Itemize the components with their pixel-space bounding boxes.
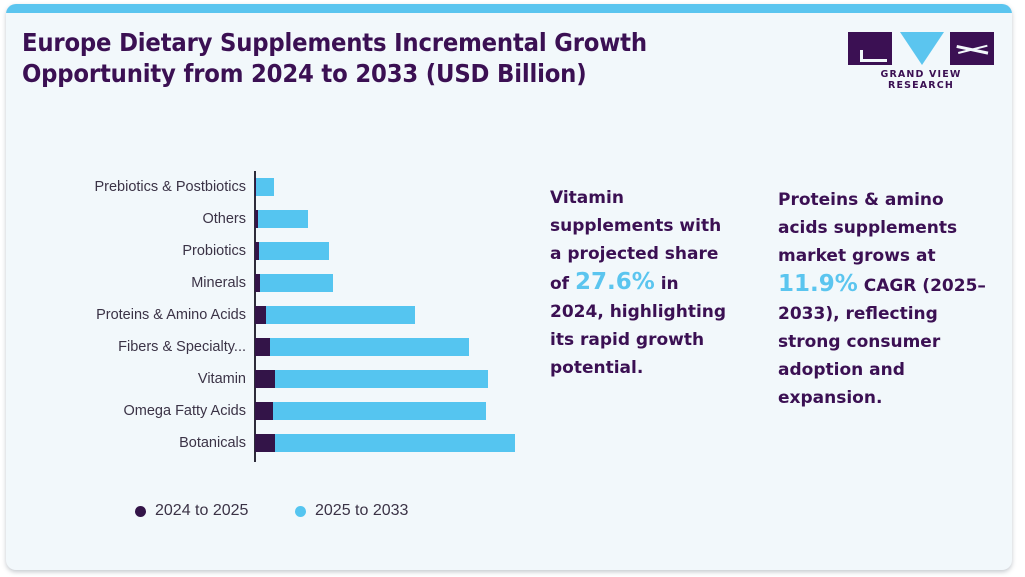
category-label: Probiotics bbox=[6, 235, 246, 267]
top-accent-bar bbox=[6, 4, 1012, 13]
insight-panel-vitamin: Vitamin supplements with a projected sha… bbox=[550, 184, 730, 382]
bar-segment-2025-2033 bbox=[270, 338, 469, 356]
bar-segment-2024-2025 bbox=[255, 370, 275, 388]
stacked-bar bbox=[255, 178, 274, 196]
chart-row: Probiotics bbox=[6, 235, 536, 267]
category-label: Botanicals bbox=[6, 427, 246, 459]
insight-left-highlight: 27.6% bbox=[575, 269, 655, 295]
bar-segment-2024-2025 bbox=[255, 306, 266, 324]
category-label: Minerals bbox=[6, 267, 246, 299]
incremental-growth-bar-chart: Prebiotics & PostbioticsOthersProbiotics… bbox=[6, 164, 536, 474]
chart-row: Omega Fatty Acids bbox=[6, 395, 536, 427]
logo-wordmark: GRAND VIEW RESEARCH bbox=[848, 69, 994, 91]
stacked-bar bbox=[255, 274, 333, 292]
header: Europe Dietary Supplements Incremental G… bbox=[6, 13, 1012, 105]
page-title-line-1: Europe Dietary Supplements Incremental G… bbox=[22, 27, 729, 58]
logo-marks bbox=[848, 32, 994, 65]
insight-right-before: Proteins & amino acids supplements marke… bbox=[778, 190, 957, 266]
bar-segment-2025-2033 bbox=[260, 274, 333, 292]
category-label: Prebiotics & Postbiotics bbox=[6, 171, 246, 203]
chart-row: Botanicals bbox=[6, 427, 536, 459]
logo-v-triangle-icon bbox=[900, 32, 944, 65]
legend-label: 2024 to 2025 bbox=[155, 502, 248, 520]
category-label: Vitamin bbox=[6, 363, 246, 395]
chart-legend: 2024 to 20252025 to 2033 bbox=[6, 498, 536, 524]
category-label: Omega Fatty Acids bbox=[6, 395, 246, 427]
stacked-bar bbox=[255, 434, 515, 452]
category-label: Proteins & Amino Acids bbox=[6, 299, 246, 331]
bar-segment-2025-2033 bbox=[259, 242, 329, 260]
stacked-bar bbox=[255, 370, 488, 388]
bar-segment-2024-2025 bbox=[255, 434, 275, 452]
legend-item[interactable]: 2025 to 2033 bbox=[295, 498, 408, 524]
chart-row: Prebiotics & Postbiotics bbox=[6, 171, 536, 203]
stacked-bar bbox=[255, 210, 308, 228]
bar-segment-2025-2033 bbox=[266, 306, 415, 324]
page-title-line-2: Opportunity from 2024 to 2033 (USD Billi… bbox=[22, 58, 729, 89]
logo-g-icon bbox=[848, 32, 892, 65]
chart-row: Others bbox=[6, 203, 536, 235]
chart-row: Minerals bbox=[6, 267, 536, 299]
bar-segment-2025-2033 bbox=[275, 370, 488, 388]
chart-row: Proteins & Amino Acids bbox=[6, 299, 536, 331]
legend-dot-icon bbox=[295, 506, 306, 517]
stacked-bar bbox=[255, 242, 329, 260]
stacked-bar bbox=[255, 306, 415, 324]
bar-segment-2024-2025 bbox=[255, 338, 270, 356]
bar-segment-2025-2033 bbox=[275, 434, 515, 452]
category-label: Fibers & Specialty... bbox=[6, 331, 246, 363]
insight-panel-proteins: Proteins & amino acids supplements marke… bbox=[778, 186, 988, 412]
legend-label: 2025 to 2033 bbox=[315, 502, 408, 520]
chart-row: Fibers & Specialty... bbox=[6, 331, 536, 363]
bar-segment-2025-2033 bbox=[256, 178, 274, 196]
bar-segment-2024-2025 bbox=[255, 402, 273, 420]
logo-r-icon bbox=[950, 32, 994, 65]
chart-row: Vitamin bbox=[6, 363, 536, 395]
legend-item[interactable]: 2024 to 2025 bbox=[135, 498, 248, 524]
bar-segment-2025-2033 bbox=[258, 210, 308, 228]
stacked-bar bbox=[255, 402, 486, 420]
insight-right-highlight: 11.9% bbox=[778, 271, 858, 297]
legend-dot-icon bbox=[135, 506, 146, 517]
grand-view-research-logo: GRAND VIEW RESEARCH bbox=[848, 32, 994, 86]
page-title: Europe Dietary Supplements Incremental G… bbox=[22, 27, 729, 89]
category-label: Others bbox=[6, 203, 246, 235]
stacked-bar bbox=[255, 338, 469, 356]
bar-segment-2025-2033 bbox=[273, 402, 486, 420]
infographic-card: Europe Dietary Supplements Incremental G… bbox=[6, 4, 1012, 570]
